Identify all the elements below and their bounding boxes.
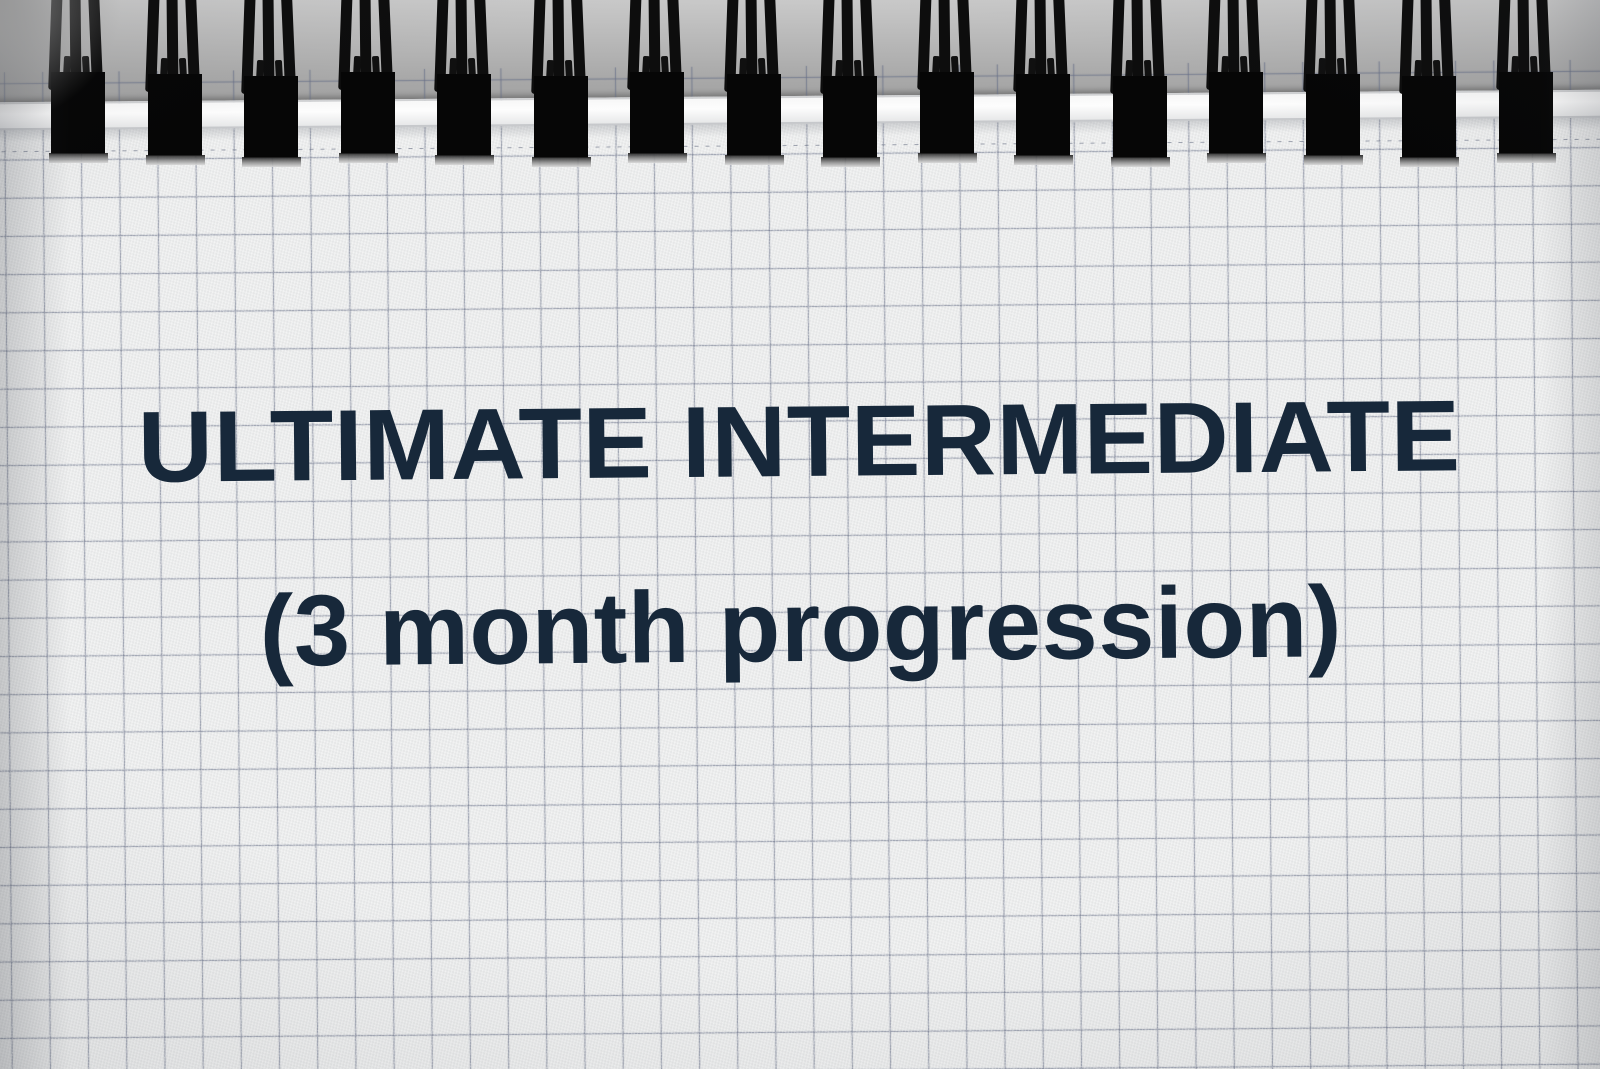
notepad-title-card: ULTIMATE INTERMEDIATE (3 month progressi…: [0, 0, 1600, 1069]
page-title-line-2: (3 month progression): [0, 570, 1600, 685]
title-text-block: ULTIMATE INTERMEDIATE (3 month progressi…: [0, 385, 1600, 685]
page-title-line-1: ULTIMATE INTERMEDIATE: [0, 385, 1600, 500]
